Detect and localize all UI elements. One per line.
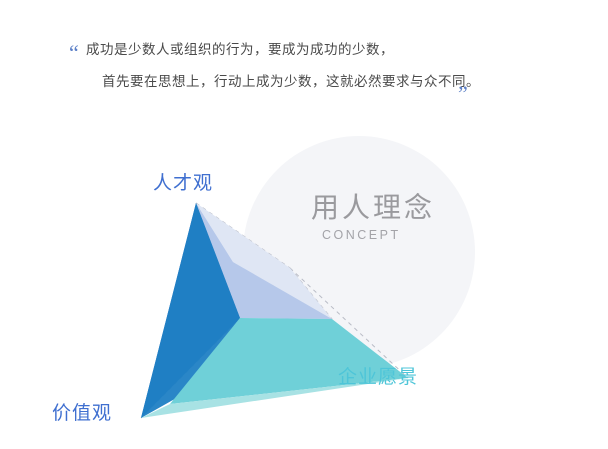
slide-canvas: “ 成功是少数人或组织的行为，要成为成功的少数， 首先要在思想上，行动上成为少数… [0, 0, 608, 449]
concept-title: 用人理念 [311, 186, 435, 226]
label-vision: 企业愿景 [338, 362, 418, 389]
label-talent: 人才观 [153, 168, 213, 195]
pyramid-diagram [0, 0, 608, 449]
concept-subtitle: CONCEPT [322, 228, 401, 242]
label-value: 价值观 [52, 398, 112, 425]
